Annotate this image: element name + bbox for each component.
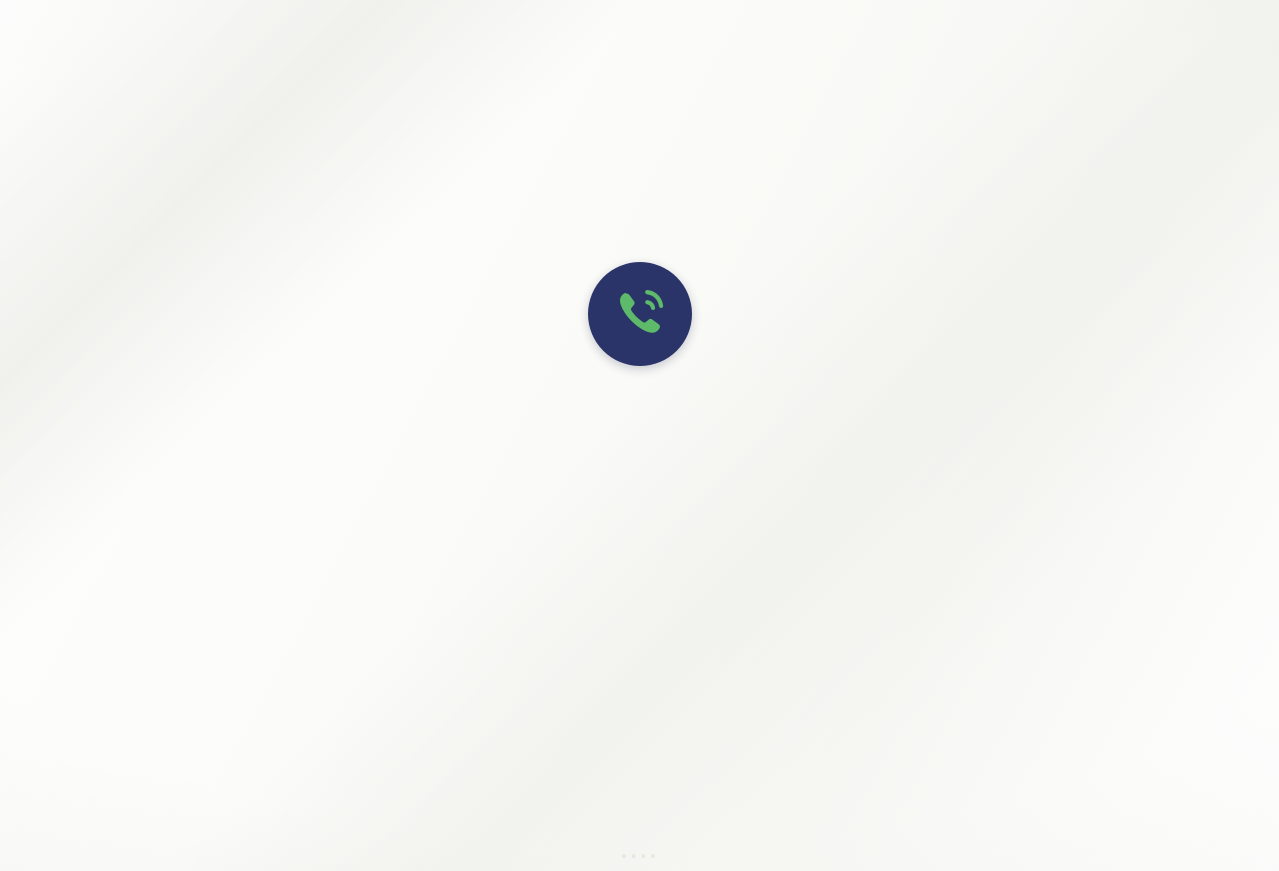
bottom-watermark: •••• bbox=[0, 850, 1279, 865]
background-vignette bbox=[0, 0, 1279, 871]
phone-call-badge bbox=[588, 262, 692, 366]
phone-call-icon bbox=[610, 284, 670, 344]
